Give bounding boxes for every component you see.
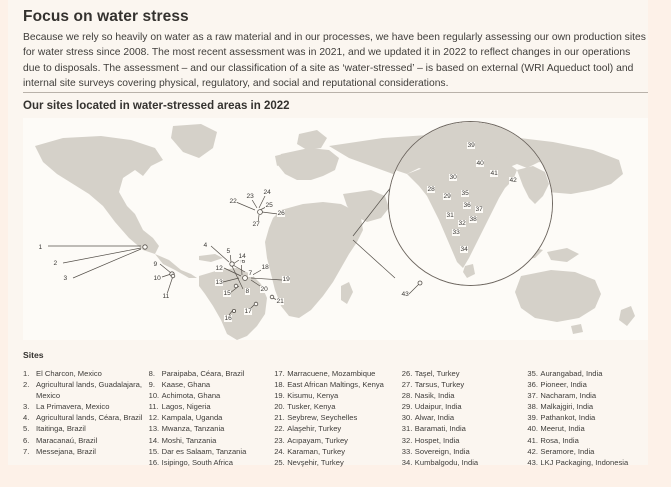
legend-item-number: 25. xyxy=(274,457,287,468)
list-item[interactable]: 38.Malkajgiri, India xyxy=(527,401,653,412)
map-marker-1[interactable]: 1 xyxy=(38,244,43,251)
inset-marker-29[interactable]: 29 xyxy=(443,193,451,200)
legend-item-label: Malkajgiri, India xyxy=(540,401,653,412)
list-item[interactable]: 13.Mwanza, Tanzania xyxy=(149,423,275,434)
list-item[interactable]: 31.Baramati, India xyxy=(402,423,528,434)
legend-item-number: 17. xyxy=(274,368,287,379)
map-marker-14[interactable]: 14 xyxy=(238,253,246,260)
legend-column-5: 35.Aurangabad, India 36.Pioneer, India 3… xyxy=(527,368,653,468)
inset-marker-42[interactable]: 42 xyxy=(509,177,517,184)
list-item[interactable]: 9.Kaase, Ghana xyxy=(149,379,275,390)
map-marker-5[interactable]: 5 xyxy=(226,248,231,255)
legend-item-label: Udaipur, India xyxy=(415,401,528,412)
legend-item-number: 32. xyxy=(402,435,415,446)
map-marker-9[interactable]: 9 xyxy=(153,261,158,268)
list-item[interactable]: 29.Udaipur, India xyxy=(402,401,528,412)
legend-item-label: Mwanza, Tanzania xyxy=(162,423,275,434)
inset-marker-35[interactable]: 35 xyxy=(461,190,469,197)
legend-item-number: 33. xyxy=(402,446,415,457)
list-item[interactable]: 37.Nacharam, India xyxy=(527,390,653,401)
legend-item-label: Messejana, Brazil xyxy=(36,446,149,457)
legend-item-label: Taşel, Turkey xyxy=(415,368,528,379)
legend-item-number: 14. xyxy=(149,435,162,446)
list-item[interactable]: 17.Marracuene, Mozambique xyxy=(274,368,402,379)
legend-item-label: Kumbalgodu, India xyxy=(415,457,528,468)
legend-item-label: Tarsus, Turkey xyxy=(415,379,528,390)
map-marker-22[interactable]: 22 xyxy=(229,198,237,205)
page-title: Focus on water stress xyxy=(23,8,189,26)
inset-marker-40[interactable]: 40 xyxy=(476,160,484,167)
inset-marker-39[interactable]: 39 xyxy=(467,142,475,149)
map-marker-8[interactable]: 8 xyxy=(245,288,250,295)
legend-item-number: 28. xyxy=(402,390,415,401)
list-item[interactable]: 21.Seybrew, Seychelles xyxy=(274,412,402,423)
legend-item-label: Kampala, Uganda xyxy=(162,412,275,423)
map-marker-2[interactable]: 2 xyxy=(53,260,58,267)
legend-item-number: 12. xyxy=(149,412,162,423)
legend-item-label: LKJ Packaging, Indonesia xyxy=(540,457,653,468)
legend-item-number: 4. xyxy=(23,412,36,423)
legend-item-number: 2. xyxy=(23,379,36,401)
legend-item-number: 40. xyxy=(527,423,540,434)
map-marker-18[interactable]: 18 xyxy=(261,264,269,271)
legend-item-number: 11. xyxy=(149,401,162,412)
legend-item-label: Pioneer, India xyxy=(540,379,653,390)
legend-item-number: 35. xyxy=(527,368,540,379)
map-marker-12[interactable]: 12 xyxy=(215,265,223,272)
map-marker-25[interactable]: 25 xyxy=(265,202,273,209)
legend-title: Sites xyxy=(23,350,653,360)
legend-column-2: 8.Paraipaba, Céara, Brazil 9.Kaase, Ghan… xyxy=(149,368,275,468)
legend-item-number: 30. xyxy=(402,412,415,423)
legend-item-label: Paraipaba, Céara, Brazil xyxy=(162,368,275,379)
legend-item-label: La Primavera, Mexico xyxy=(36,401,149,412)
legend-item-number: 22. xyxy=(274,423,287,434)
legend-item-label: Rosa, India xyxy=(540,435,653,446)
map-marker-16[interactable]: 16 xyxy=(224,315,232,322)
map-marker-17[interactable]: 17 xyxy=(244,308,252,315)
legend-item-label: Aurangabad, India xyxy=(540,368,653,379)
legend-item-label: Agricultural lands, Céara, Brazil xyxy=(36,412,149,423)
legend-item-number: 26. xyxy=(402,368,415,379)
legend-item-label: Nasik, India xyxy=(415,390,528,401)
legend-item-label: Nacharam, India xyxy=(540,390,653,401)
legend-item-label: Itaitinga, Brazil xyxy=(36,423,149,434)
list-item[interactable]: 6.Maracanaú, Brazil xyxy=(23,435,149,446)
legend-item-label: Maracanaú, Brazil xyxy=(36,435,149,446)
list-item[interactable]: 33.Sovereign, India xyxy=(402,446,528,457)
legend-item-number: 6. xyxy=(23,435,36,446)
map-marker-4[interactable]: 4 xyxy=(203,242,208,249)
map-marker-26[interactable]: 26 xyxy=(277,210,285,217)
inset-marker-41[interactable]: 41 xyxy=(490,170,498,177)
list-item[interactable]: 4.Agricultural lands, Céara, Brazil xyxy=(23,412,149,423)
world-map: 1 2 3 4 5 6 7 8 9 10 11 12 13 14 15 16 1… xyxy=(23,118,648,340)
list-item[interactable]: 7.Messejana, Brazil xyxy=(23,446,149,457)
legend-item-number: 13. xyxy=(149,423,162,434)
map-marker-3[interactable]: 3 xyxy=(63,275,68,282)
legend-item-number: 31. xyxy=(402,423,415,434)
legend-item-label: Baramati, India xyxy=(415,423,528,434)
list-item[interactable]: 5.Itaitinga, Brazil xyxy=(23,423,149,434)
map-marker-21[interactable]: 21 xyxy=(276,298,284,305)
list-item[interactable]: 40.Meerut, India xyxy=(527,423,653,434)
marker-leader-lines xyxy=(23,118,648,340)
map-marker-11[interactable]: 11 xyxy=(162,293,170,300)
legend-item-label: Sovereign, India xyxy=(415,446,528,457)
list-item[interactable]: 23.Acıpayam, Turkey xyxy=(274,435,402,446)
sites-legend: Sites 1.El Charcon, Mexico 2.Agricultura… xyxy=(23,350,653,468)
list-item[interactable]: 12.Kampala, Uganda xyxy=(149,412,275,423)
map-marker-10[interactable]: 10 xyxy=(153,275,161,282)
list-item[interactable]: 27.Tarsus, Turkey xyxy=(402,379,528,390)
list-item[interactable]: 36.Pioneer, India xyxy=(527,379,653,390)
inset-marker-34[interactable]: 34 xyxy=(460,246,468,253)
legend-item-label: Seramore, India xyxy=(540,446,653,457)
legend-item-label: Moshi, Tanzania xyxy=(162,435,275,446)
inset-marker-30[interactable]: 30 xyxy=(449,174,457,181)
legend-item-number: 42. xyxy=(527,446,540,457)
legend-item-number: 7. xyxy=(23,446,36,457)
legend-item-label: Nevşehir, Turkey xyxy=(287,457,402,468)
legend-item-number: 43. xyxy=(527,457,540,468)
legend-item-number: 18. xyxy=(274,379,287,390)
legend-item-label: Alwar, India xyxy=(415,412,528,423)
map-marker-20[interactable]: 20 xyxy=(260,286,268,293)
legend-column-3: 17.Marracuene, Mozambique 18.East Africa… xyxy=(274,368,402,468)
list-item[interactable]: 28.Nasik, India xyxy=(402,390,528,401)
legend-item-number: 19. xyxy=(274,390,287,401)
legend-item-number: 34. xyxy=(402,457,415,468)
list-item[interactable]: 16.Isipingo, South Africa xyxy=(149,457,275,468)
map-marker-27[interactable]: 27 xyxy=(252,221,260,228)
inset-marker-28[interactable]: 28 xyxy=(427,186,435,193)
map-marker-13[interactable]: 13 xyxy=(215,279,223,286)
legend-item-label: Kisumu, Kenya xyxy=(287,390,402,401)
legend-item-number: 36. xyxy=(527,379,540,390)
legend-item-number: 9. xyxy=(149,379,162,390)
list-item[interactable]: 25.Nevşehir, Turkey xyxy=(274,457,402,468)
map-section-title: Our sites located in water-stressed area… xyxy=(23,100,290,112)
list-item[interactable]: 15.Dar es Salaam, Tanzania xyxy=(149,446,275,457)
page-content: Focus on water stress Because we rely so… xyxy=(0,0,671,487)
list-item[interactable]: 30.Alwar, India xyxy=(402,412,528,423)
legend-item-number: 21. xyxy=(274,412,287,423)
map-marker-7[interactable]: 7 xyxy=(248,270,253,277)
legend-column-1: 1.El Charcon, Mexico 2.Agricultural land… xyxy=(23,368,149,468)
legend-item-label: Marracuene, Mozambique xyxy=(287,368,402,379)
map-marker-23[interactable]: 23 xyxy=(246,193,254,200)
legend-item-number: 5. xyxy=(23,423,36,434)
legend-item-number: 10. xyxy=(149,390,162,401)
india-inset-magnifier: 39 40 41 42 30 28 29 35 36 37 31 38 32 3… xyxy=(388,121,553,286)
list-item[interactable]: 35.Aurangabad, India xyxy=(527,368,653,379)
inset-marker-31[interactable]: 31 xyxy=(446,212,454,219)
list-item[interactable]: 39.Pathankot, India xyxy=(527,412,653,423)
list-item[interactable]: 22.Alaşehir, Turkey xyxy=(274,423,402,434)
list-item[interactable]: 26.Taşel, Turkey xyxy=(402,368,528,379)
legend-item-number: 29. xyxy=(402,401,415,412)
inset-marker-38[interactable]: 38 xyxy=(469,216,477,223)
legend-item-label: Meerut, India xyxy=(540,423,653,434)
map-marker-24[interactable]: 24 xyxy=(263,189,271,196)
legend-item-label: El Charcon, Mexico xyxy=(36,368,149,379)
legend-item-number: 38. xyxy=(527,401,540,412)
legend-item-number: 27. xyxy=(402,379,415,390)
legend-item-label: Karaman, Turkey xyxy=(287,446,402,457)
inset-marker-37[interactable]: 37 xyxy=(475,206,483,213)
legend-item-label: Dar es Salaam, Tanzania xyxy=(162,446,275,457)
list-item[interactable]: 20.Tusker, Kenya xyxy=(274,401,402,412)
legend-item-number: 37. xyxy=(527,390,540,401)
legend-item-label: Kaase, Ghana xyxy=(162,379,275,390)
list-item[interactable]: 41.Rosa, India xyxy=(527,435,653,446)
list-item[interactable]: 10.Achimota, Ghana xyxy=(149,390,275,401)
legend-item-number: 23. xyxy=(274,435,287,446)
legend-item-label: Lagos, Nigeria xyxy=(162,401,275,412)
legend-item-number: 20. xyxy=(274,401,287,412)
legend-item-label: Pathankot, India xyxy=(540,412,653,423)
legend-item-label: Isipingo, South Africa xyxy=(162,457,275,468)
legend-columns: 1.El Charcon, Mexico 2.Agricultural land… xyxy=(23,368,653,468)
list-item[interactable]: 8.Paraipaba, Céara, Brazil xyxy=(149,368,275,379)
map-marker-15[interactable]: 15 xyxy=(223,290,231,297)
legend-item-number: 1. xyxy=(23,368,36,379)
map-marker-19[interactable]: 19 xyxy=(282,276,290,283)
legend-column-4: 26.Taşel, Turkey 27.Tarsus, Turkey 28.Na… xyxy=(402,368,528,468)
legend-item-label: Hospet, India xyxy=(415,435,528,446)
inset-marker-32[interactable]: 32 xyxy=(458,220,466,227)
inset-marker-33[interactable]: 33 xyxy=(452,229,460,236)
intro-paragraph: Because we rely so heavily on water as a… xyxy=(23,30,648,92)
list-item[interactable]: 19.Kisumu, Kenya xyxy=(274,390,402,401)
list-item[interactable]: 43.LKJ Packaging, Indonesia xyxy=(527,457,653,468)
legend-item-number: 3. xyxy=(23,401,36,412)
list-item[interactable]: 42.Seramore, India xyxy=(527,446,653,457)
legend-item-label: Achimota, Ghana xyxy=(162,390,275,401)
legend-item-number: 24. xyxy=(274,446,287,457)
legend-item-number: 41. xyxy=(527,435,540,446)
list-item[interactable]: 18.East African Maltings, Kenya xyxy=(274,379,402,390)
legend-item-label: Tusker, Kenya xyxy=(287,401,402,412)
list-item[interactable]: 3.La Primavera, Mexico xyxy=(23,401,149,412)
list-item[interactable]: 24.Karaman, Turkey xyxy=(274,446,402,457)
legend-item-number: 8. xyxy=(149,368,162,379)
legend-item-number: 15. xyxy=(149,446,162,457)
list-item[interactable]: 14.Moshi, Tanzania xyxy=(149,435,275,446)
legend-item-label: Agricultural lands, Guadalajara, Mexico xyxy=(36,379,149,401)
legend-item-label: Acıpayam, Turkey xyxy=(287,435,402,446)
legend-item-label: East African Maltings, Kenya xyxy=(287,379,402,390)
list-item[interactable]: 2.Agricultural lands, Guadalajara, Mexic… xyxy=(23,379,149,401)
section-divider xyxy=(23,92,648,93)
list-item[interactable]: 32.Hospet, India xyxy=(402,435,528,446)
legend-item-label: Seybrew, Seychelles xyxy=(287,412,402,423)
legend-item-label: Alaşehir, Turkey xyxy=(287,423,402,434)
list-item[interactable]: 34.Kumbalgodu, India xyxy=(402,457,528,468)
list-item[interactable]: 1.El Charcon, Mexico xyxy=(23,368,149,379)
legend-item-number: 16. xyxy=(149,457,162,468)
list-item[interactable]: 11.Lagos, Nigeria xyxy=(149,401,275,412)
map-marker-43[interactable]: 43 xyxy=(401,291,409,298)
legend-item-number: 39. xyxy=(527,412,540,423)
inset-marker-36[interactable]: 36 xyxy=(463,202,471,209)
